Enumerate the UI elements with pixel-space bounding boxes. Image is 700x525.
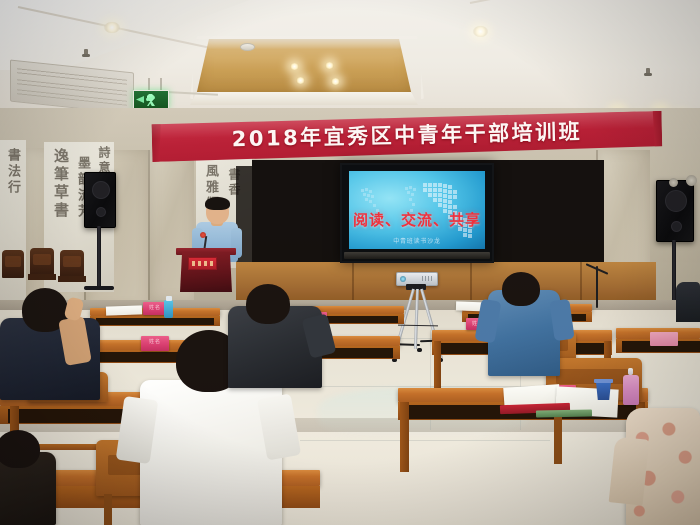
pa-speaker-right — [656, 180, 694, 242]
calligraphy-strokes-left: 書法行 — [4, 148, 23, 196]
drinking-cup-blue — [596, 382, 611, 400]
projection-screen: 阅读、交流、共享 中青班读书沙龙 — [340, 163, 494, 263]
speaker-stand-pole-left — [97, 226, 101, 288]
back-chair-3 — [2, 250, 24, 278]
attendee-far-left-head — [0, 430, 40, 468]
exit-arrow-icon — [136, 96, 144, 103]
presenter-hair — [205, 197, 230, 210]
water-bottle-blue-cap — [166, 296, 172, 301]
speaker-stand-base-left — [84, 286, 114, 290]
drinking-cup-lid — [594, 379, 613, 383]
water-bottle-pink — [623, 375, 639, 405]
coffer-light-1 — [290, 63, 299, 70]
attendee-floral-shoulder — [609, 436, 650, 505]
ceiling-groove-right — [470, 0, 700, 4]
slide-title: 阅读、交流、共享 — [349, 209, 485, 230]
wall-speaker-a — [686, 175, 697, 186]
emergency-exit-icon — [133, 90, 169, 109]
downlight-2 — [473, 26, 488, 37]
ceiling-coffer-lip — [190, 92, 418, 105]
projector-vent — [422, 276, 434, 281]
projector-lens-icon — [400, 276, 406, 282]
smoke-detector-1 — [240, 43, 255, 51]
attendee-blue-head — [502, 272, 540, 306]
speaker-tweeter-left — [96, 207, 106, 217]
desk-row3-right-leg — [400, 402, 409, 472]
projection-screen-bottom-bar — [344, 252, 490, 259]
speaker-tweeter-right — [671, 221, 682, 232]
desk-row1-left-cavity — [96, 318, 214, 325]
paper-row1-left — [106, 305, 142, 315]
speaker-cone-right — [665, 190, 687, 212]
chair-front-center-leg — [104, 494, 112, 525]
microphone-icon — [200, 232, 206, 238]
air-conditioner-vent — [10, 59, 134, 114]
back-chair-2 — [60, 250, 84, 278]
sprinkler-head-1 — [84, 49, 88, 56]
name-card-1: 姓名 — [141, 336, 169, 351]
water-bottle-blue — [164, 300, 173, 318]
attendee-right-edge — [676, 282, 700, 322]
speaker-cone-left — [92, 181, 110, 199]
wall-speaker-b — [669, 178, 678, 187]
attendee-dark-head — [246, 284, 290, 324]
desk-row2-right-leg — [434, 341, 441, 389]
green-book — [536, 410, 592, 418]
calligraphy-strokes-c1: 逸筆草書 — [50, 148, 71, 220]
ceiling-coffer-frame — [190, 36, 424, 99]
tripod-foot-center — [417, 348, 422, 352]
back-chair-seat-1 — [28, 274, 56, 280]
name-card-6 — [650, 332, 678, 346]
back-chair-1 — [30, 248, 54, 276]
sprinkler-head-4 — [646, 68, 650, 75]
water-bottle-cap — [628, 368, 633, 375]
wall-cable-vertical — [596, 266, 598, 308]
ceiling — [0, 0, 700, 122]
pa-speaker-left — [84, 172, 116, 228]
running-man-icon — [145, 93, 156, 106]
coffer-light-3 — [325, 62, 334, 69]
conference-room-photo: 書法行 逸筆草書 墨韻流芳 詩意 風雅頌 書香 2018年宜秀区中青年干部培训班 — [0, 0, 700, 525]
slide-subtitle: 中青班读书沙龙 — [349, 236, 485, 245]
wall-seam-2 — [148, 150, 150, 306]
back-chair-seat-2 — [58, 276, 86, 282]
floor-tile-line-3 — [300, 440, 550, 441]
coffer-light-4 — [331, 78, 340, 85]
podium-name-plate — [188, 257, 217, 270]
downlight-1 — [104, 22, 120, 33]
name-card-1-text: 姓名 — [141, 338, 169, 345]
coffer-light-2 — [296, 77, 305, 84]
projected-slide: 阅读、交流、共享 中青班读书沙龙 — [349, 171, 485, 249]
